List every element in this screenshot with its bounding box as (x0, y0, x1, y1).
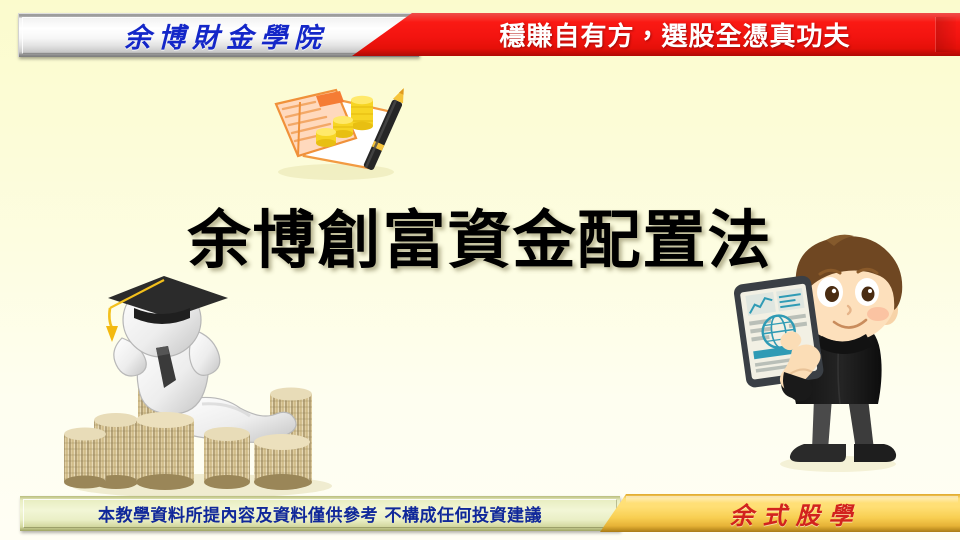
notepad-illustration (258, 76, 418, 184)
graduate-svg (52, 272, 342, 502)
brand-plate: 余式股學 (600, 494, 960, 532)
footer-band: 本教學資料所提內容及資料僅供參考 不構成任何投資建議 余式股學 (0, 484, 960, 540)
businessman-svg (718, 222, 950, 494)
coin-stack-tall (351, 96, 373, 130)
notepad-svg (258, 76, 418, 184)
slide-canvas: 余博財金學院 穩賺自有方，選股全憑真功夫 (0, 0, 960, 540)
academy-name-text: 余博財金學院 (19, 14, 419, 57)
header-band: 余博財金學院 穩賺自有方，選股全憑真功夫 (0, 0, 960, 68)
graduate-on-coins-illustration (52, 272, 342, 502)
tagline-text: 穩賺自有方，選股全憑真功夫 (412, 13, 938, 56)
legs (790, 398, 896, 462)
academy-name-plate: 余博財金學院 (18, 13, 419, 57)
disclaimer-plate: 本教學資料所提內容及資料僅供參考 不構成任何投資建議 (20, 496, 620, 531)
coin-stack-small (316, 128, 336, 147)
businessman-with-tablet-illustration (718, 222, 950, 494)
tagline-banner: 穩賺自有方，選股全憑真功夫 (352, 13, 960, 56)
banner-endcap (935, 17, 956, 52)
brand-name-text: 余式股學 (626, 494, 956, 532)
disclaimer-text: 本教學資料所提內容及資料僅供參考 不構成任何投資建議 (20, 496, 620, 531)
